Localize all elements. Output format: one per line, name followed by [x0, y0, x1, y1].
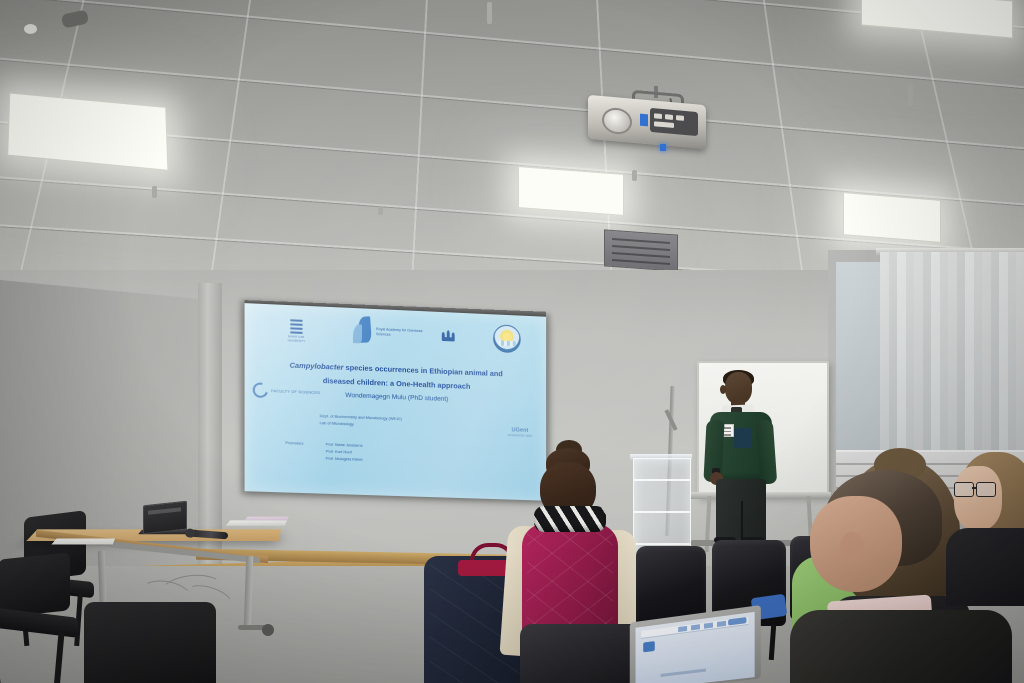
faculty-crest-icon — [250, 380, 271, 400]
ugent-logo-subtext: UNIVERSITEIT GENT — [507, 434, 532, 438]
promoter-item: Prof. Mulugeta Kibret — [326, 455, 363, 463]
page-logo — [643, 641, 655, 652]
bahir-dar-logo-text: BAHIR DAR UNIVERSITY — [281, 335, 311, 343]
university-mark-icon — [290, 319, 302, 334]
suit-jacket — [790, 610, 1012, 683]
audience-laptop[interactable] — [628, 614, 762, 683]
table-caster-wheel — [262, 624, 274, 636]
ear — [840, 532, 864, 564]
sail-icon — [352, 316, 372, 347]
power-adapter — [24, 24, 37, 34]
slide-promoters-label: Promotors — [285, 440, 303, 446]
projector-status-led — [660, 144, 666, 151]
presenter-chest-pocket — [734, 428, 752, 448]
papers-on-table — [245, 517, 289, 521]
bahir-dar-university-logo: BAHIR DAR UNIVERSITY — [281, 319, 311, 343]
slide-logo-row: BAHIR DAR UNIVERSITY Royal Academy for O… — [245, 311, 547, 360]
ceiling-light-panel — [518, 166, 624, 216]
crown-icon — [442, 329, 455, 341]
sprinkler-head — [632, 170, 637, 181]
academy-seal-logo — [493, 324, 521, 353]
slide-title-genus: Campylobacter — [290, 361, 344, 372]
slide-promoters-list: Prof. Marie Joossens Prof. Kurt Houf Pro… — [326, 440, 363, 462]
papers-on-table — [51, 539, 115, 545]
projector-cable-plug — [640, 114, 648, 127]
vertical-blinds — [880, 252, 1024, 474]
chair-left-front — [0, 556, 82, 683]
patterned-scarf — [534, 506, 606, 532]
presenter-laptop-screen — [143, 501, 187, 535]
projector-ports — [650, 108, 698, 136]
presenter-ear — [720, 385, 726, 394]
wave-icon — [498, 340, 516, 346]
man-in-dark-suit — [800, 470, 1010, 683]
ceiling-light-panel — [843, 192, 941, 243]
ceiling-projector — [588, 92, 708, 152]
suspended-ceiling — [0, 0, 1024, 288]
sprinkler-head — [152, 186, 157, 198]
faculty-logo-text: FACULTY OF SCIENCES — [271, 388, 320, 395]
faculty-of-sciences-logo: FACULTY OF SCIENCES — [253, 382, 320, 400]
royal-academy-logo-text: Royal Academy for Overseas Sciences — [376, 327, 438, 340]
ugent-logo: UGent UNIVERSITEIT GENT — [507, 427, 532, 438]
papers-on-table — [226, 520, 287, 525]
presenter-person — [698, 372, 784, 540]
presenter-trousers — [716, 479, 766, 541]
slide-department: Dept. of Biochemistry and Microbiology (… — [320, 413, 402, 430]
sprinkler-head — [378, 206, 383, 215]
presentation-room-photo: BAHIR DAR UNIVERSITY Royal Academy for O… — [0, 0, 1024, 683]
sprinkler-head — [908, 84, 913, 106]
presenter-right-arm — [756, 419, 777, 484]
air-vent-icon — [604, 229, 678, 271]
royal-academy-logo: Royal Academy for Overseas Sciences — [352, 316, 455, 350]
chair-foreground-left — [74, 602, 224, 683]
sprinkler-head — [487, 2, 492, 24]
